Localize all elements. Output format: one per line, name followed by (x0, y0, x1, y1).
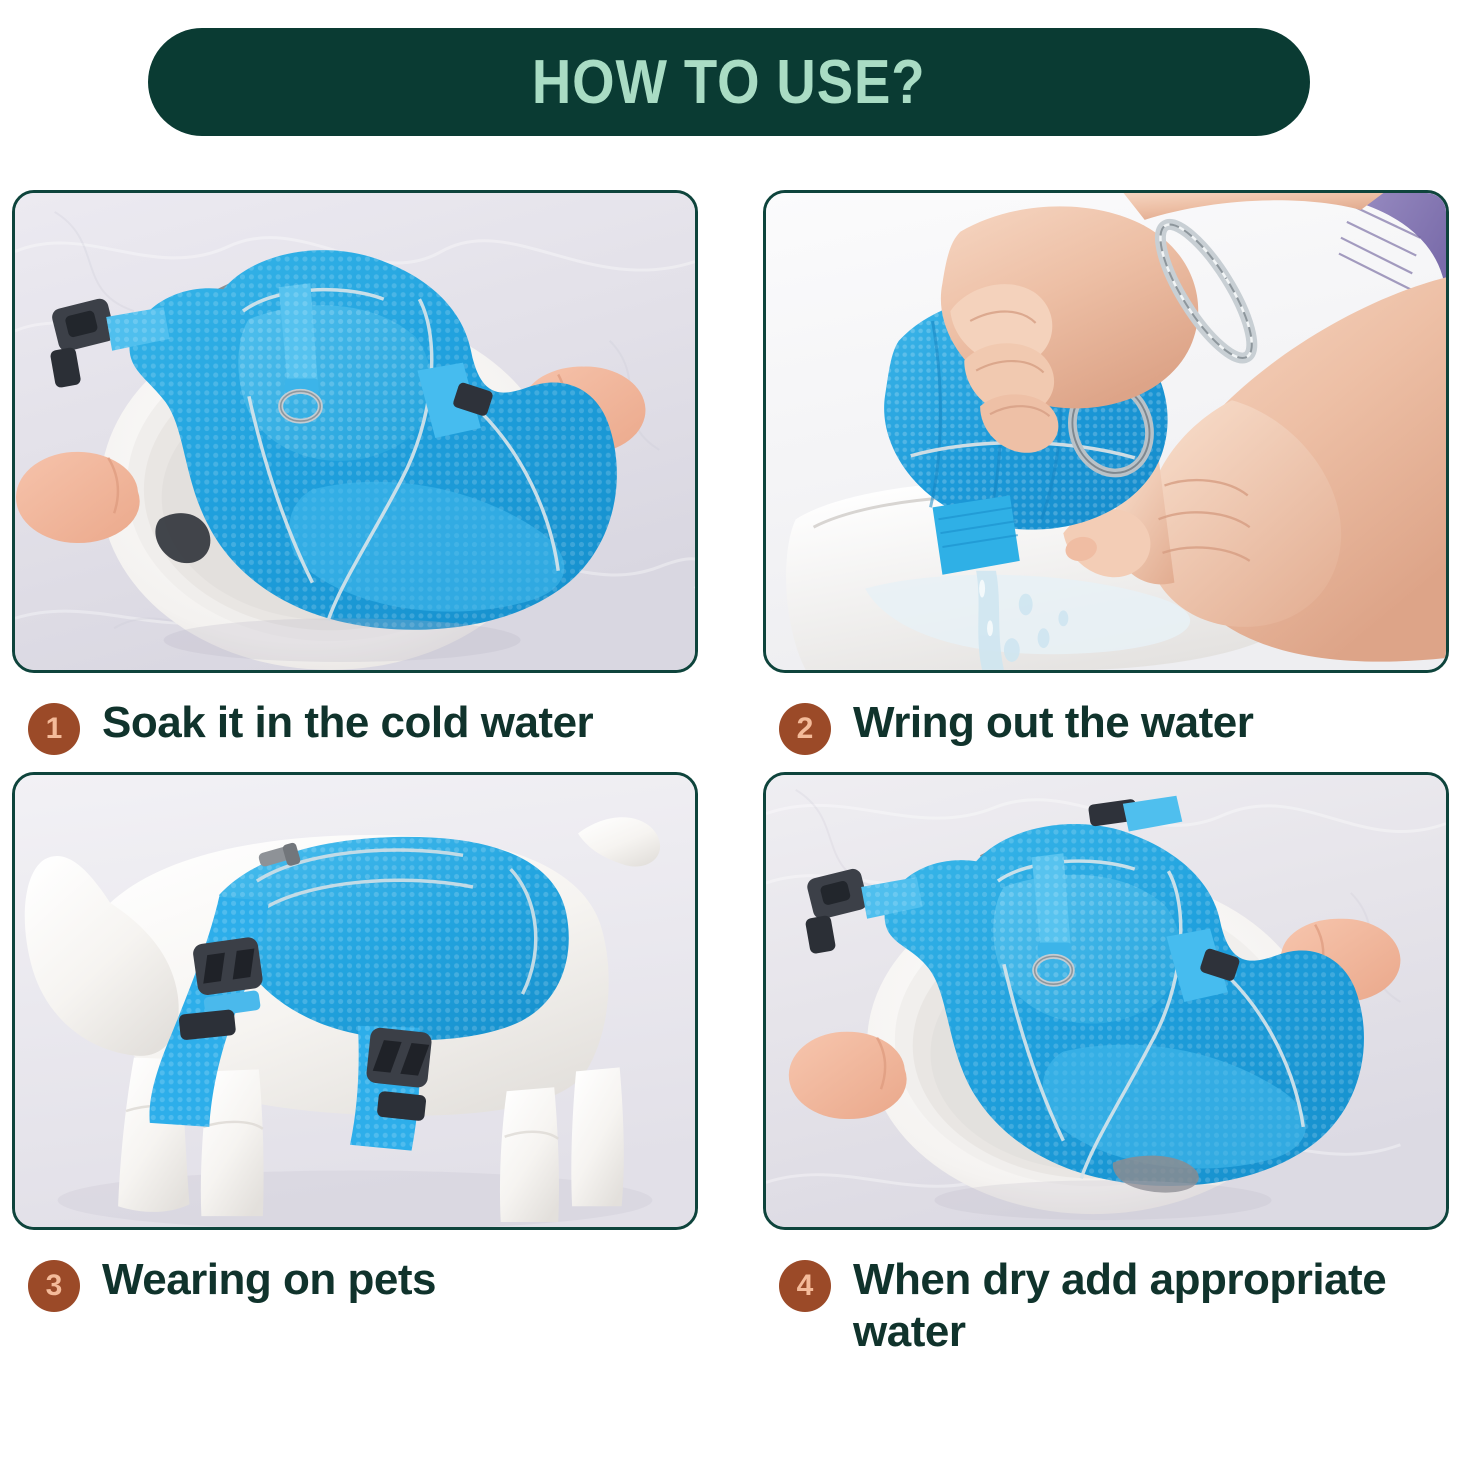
steps-row-top: 1 Soak it in the cold water (0, 190, 1460, 755)
step-caption-2: 2 Wring out the water (763, 697, 1449, 755)
step-number-badge: 2 (779, 703, 831, 755)
steps-row-bottom: 3 Wearing on pets (0, 772, 1460, 1358)
steps-grid: 1 Soak it in the cold water (0, 190, 1460, 1358)
step-number-badge: 1 (28, 703, 80, 755)
step-caption-text: Wearing on pets (102, 1254, 436, 1306)
harness-in-basin-illustration (15, 193, 695, 670)
step-card-3: 3 Wearing on pets (12, 772, 698, 1358)
step-caption-text: Soak it in the cold water (102, 697, 593, 749)
step-number-badge: 3 (28, 1260, 80, 1312)
step-caption-1: 1 Soak it in the cold water (12, 697, 698, 755)
step-photo-2 (763, 190, 1449, 673)
header-banner: HOW TO USE? (148, 28, 1310, 136)
step-caption-4: 4 When dry add appropriate water (763, 1254, 1449, 1358)
step-caption-text: Wring out the water (853, 697, 1253, 749)
step-photo-1 (12, 190, 698, 673)
harness-in-basin-dry-illustration (766, 775, 1446, 1227)
step-photo-3 (12, 772, 698, 1230)
hands-wringing-harness-illustration (766, 193, 1446, 670)
step-number-badge: 4 (779, 1260, 831, 1312)
step-caption-3: 3 Wearing on pets (12, 1254, 698, 1312)
step-card-1: 1 Soak it in the cold water (12, 190, 698, 755)
step-photo-4 (763, 772, 1449, 1230)
step-card-4: 4 When dry add appropriate water (763, 772, 1449, 1358)
step-caption-text: When dry add appropriate water (853, 1254, 1449, 1358)
page-title: HOW TO USE? (532, 47, 926, 118)
dog-wearing-harness-illustration (15, 775, 695, 1227)
step-card-2: 2 Wring out the water (763, 190, 1449, 755)
